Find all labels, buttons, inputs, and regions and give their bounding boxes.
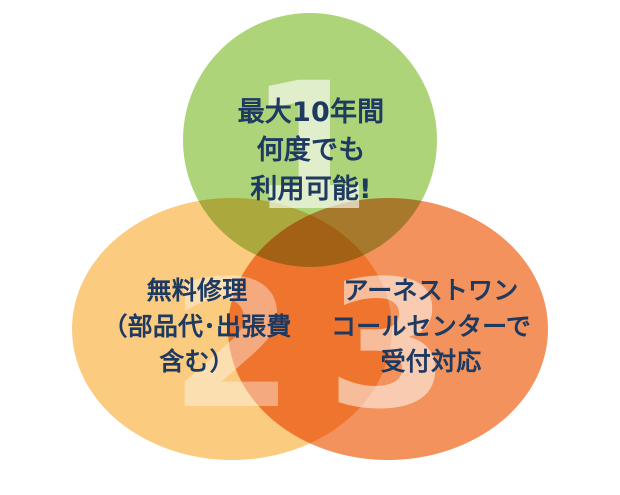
caption-yellow: 無料修理 （部品代･出張費 含む） — [78, 273, 316, 380]
caption-green: 最大10年間 何度でも 利用可能! — [186, 94, 436, 209]
caption-orange-line-2: コールセンターで — [312, 309, 550, 345]
caption-green-line-2: 何度でも — [186, 132, 436, 170]
caption-orange: アーネストワン コールセンターで 受付対応 — [312, 273, 550, 380]
caption-yellow-line-1: 無料修理 — [78, 273, 316, 309]
venn-diagram: 1 2 3 最大10年間 何度でも 利用可能! 無料修理 （部品代･出張費 含む… — [0, 0, 620, 495]
caption-green-line-1: 最大10年間 — [186, 94, 436, 132]
caption-orange-line-3: 受付対応 — [312, 344, 550, 380]
caption-green-line-3: 利用可能! — [186, 171, 436, 209]
caption-yellow-line-3: 含む） — [78, 344, 316, 380]
caption-yellow-line-2: （部品代･出張費 — [78, 309, 316, 345]
venn-circle-layer — [0, 0, 620, 495]
caption-orange-line-1: アーネストワン — [312, 273, 550, 309]
